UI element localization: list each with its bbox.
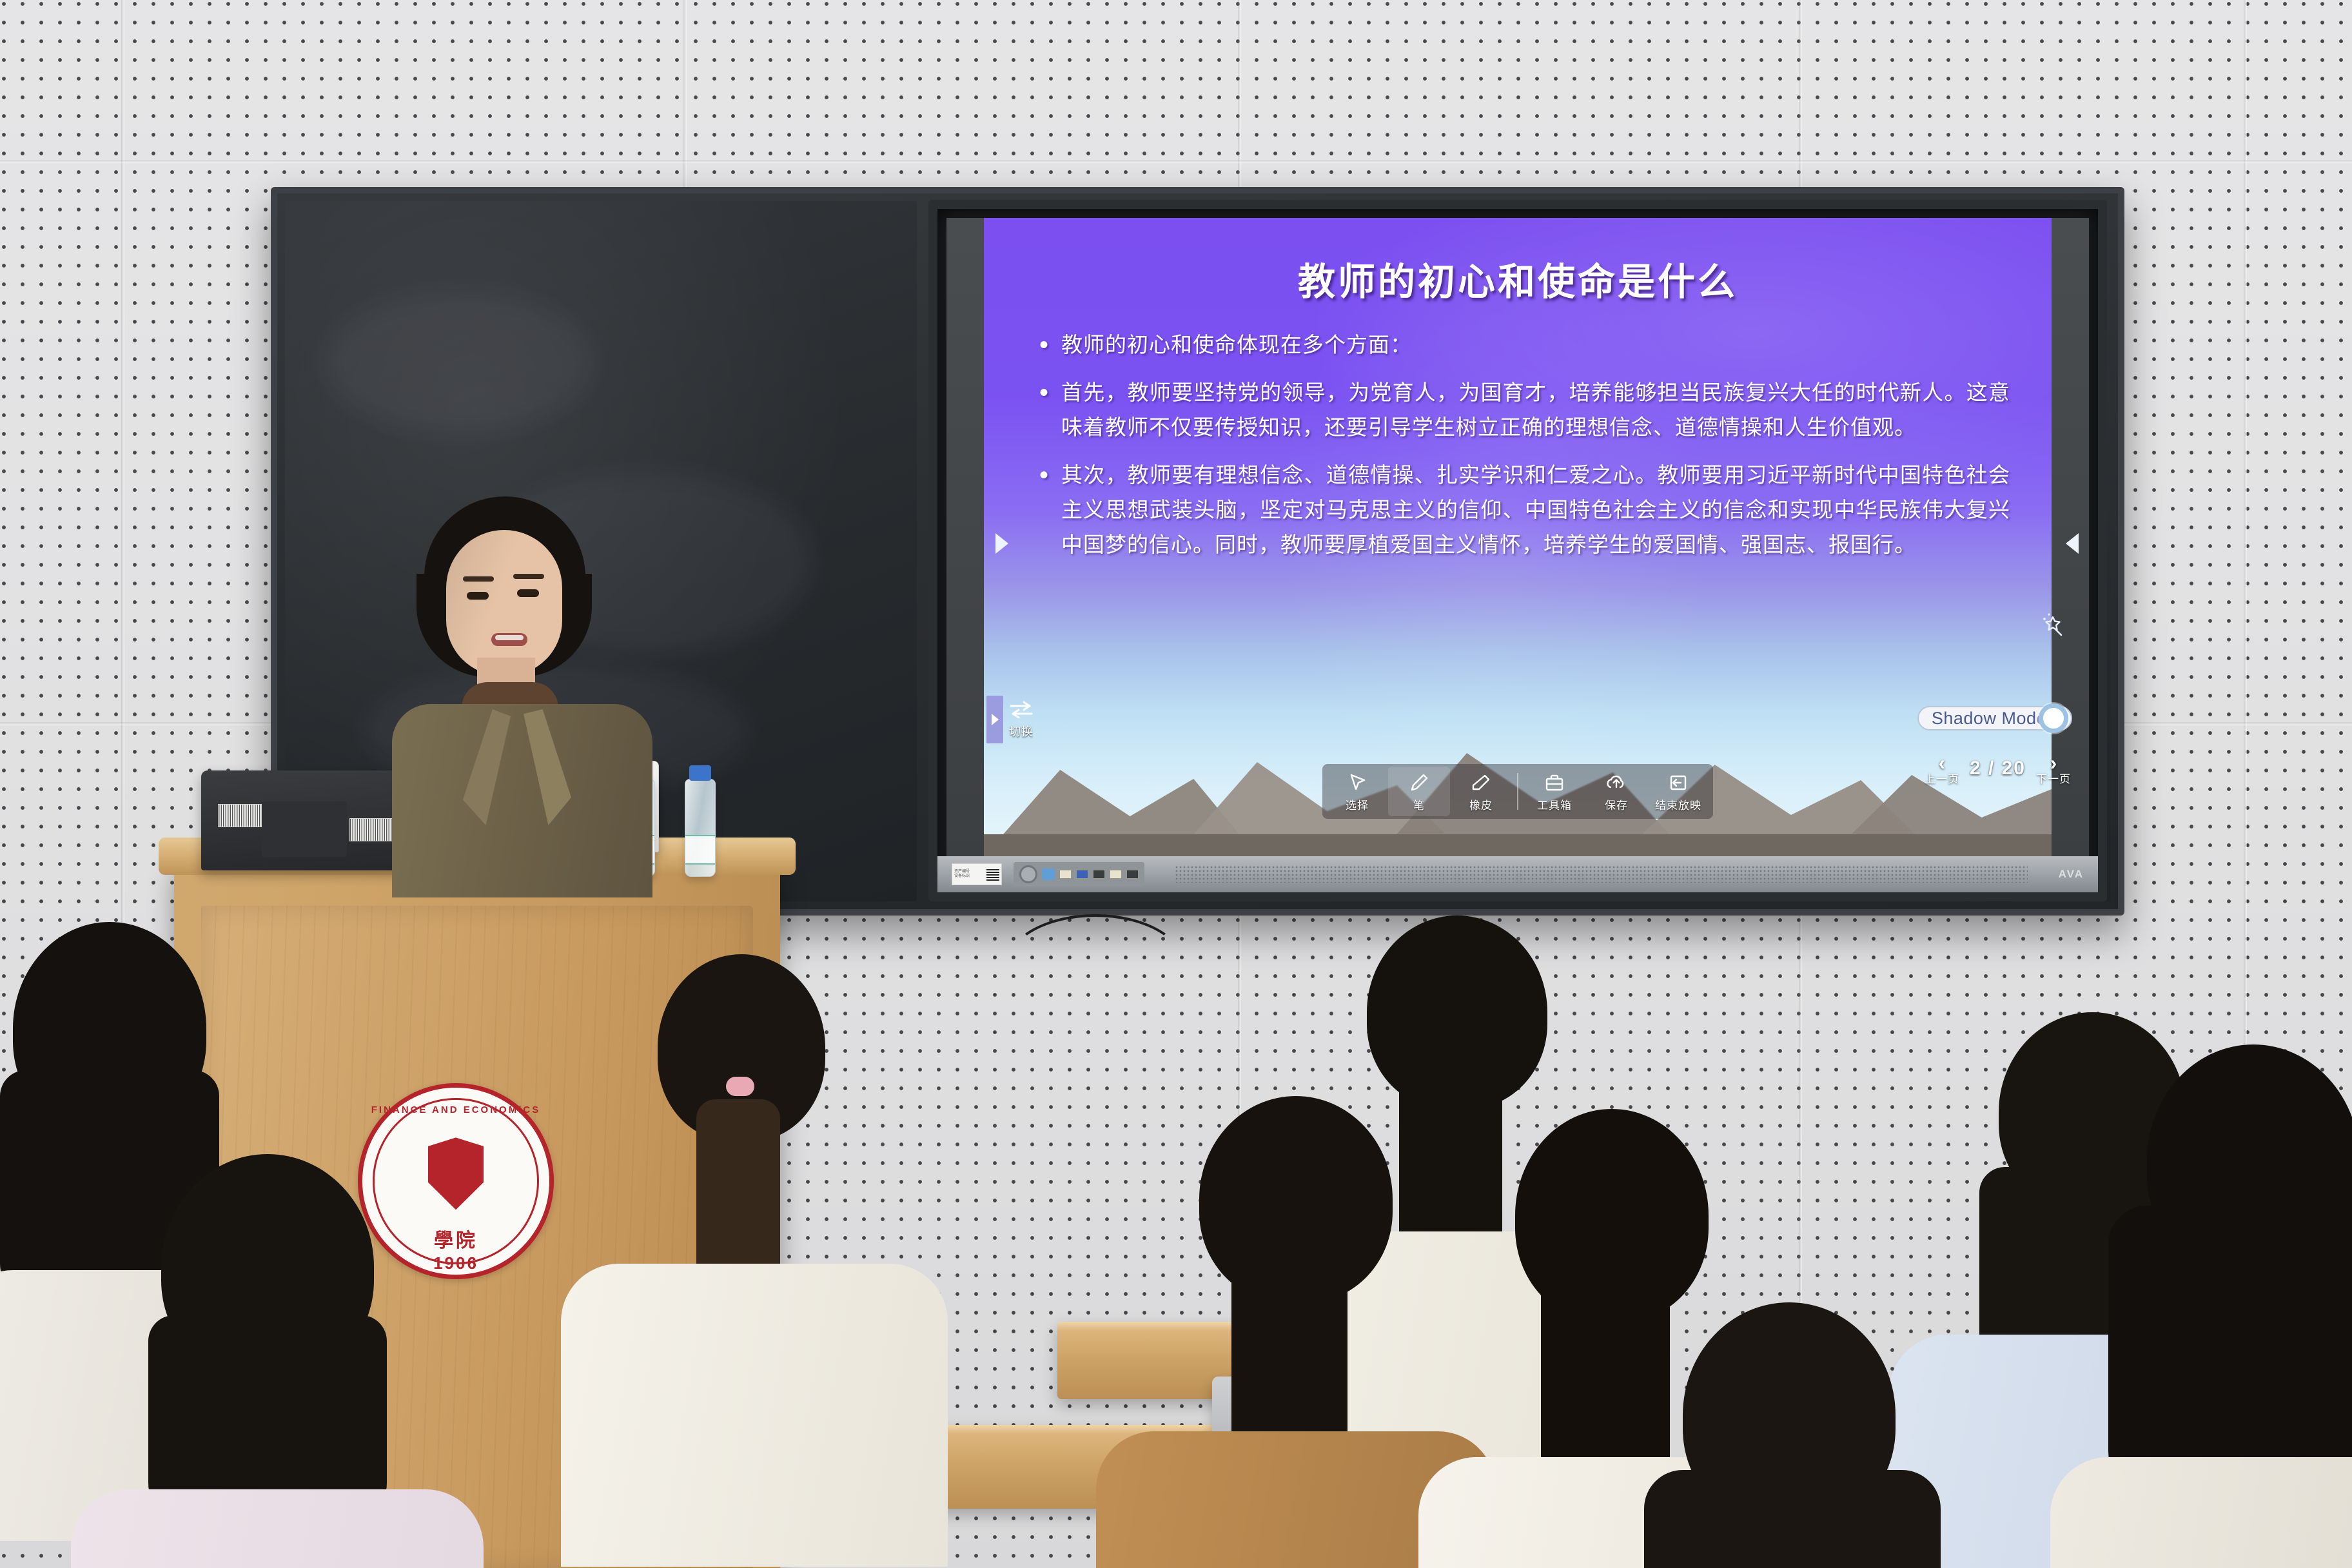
tool-label: 保存 — [1605, 796, 1628, 812]
page-counter: 2 / 20 — [1970, 758, 2026, 779]
tool-toolbox[interactable]: 工具箱 — [1524, 767, 1585, 816]
presenter-blazer — [392, 704, 652, 897]
panel-expand-left-icon[interactable] — [993, 531, 1010, 560]
tool-eraser[interactable]: 橡皮 — [1450, 767, 1512, 816]
presentation-toolbar[interactable]: 选择 笔 橡皮 — [1322, 764, 1713, 819]
chevron-left-icon: ‹ — [1939, 752, 1946, 774]
next-page-label: 下一页 — [2036, 774, 2071, 785]
cursor-select-icon — [1346, 772, 1368, 794]
barcode-label — [218, 804, 262, 827]
shadow-mode-toggle[interactable]: Shadow Mode — [1917, 706, 2072, 730]
tool-label: 橡皮 — [1469, 796, 1493, 812]
presenter-face — [446, 530, 562, 676]
asset-tag-line2: 设备标识 — [954, 874, 970, 878]
student — [116, 1154, 438, 1568]
vga-port-icon — [1126, 870, 1139, 879]
usb-port-icon — [1059, 870, 1072, 879]
bottle-cap — [689, 765, 711, 781]
display-brand-logo: AVA — [2059, 868, 2084, 881]
switch-tab-handle[interactable] — [986, 696, 1003, 743]
pen-icon — [1408, 772, 1430, 794]
student — [2070, 1044, 2352, 1567]
list-item: • 首先，教师要坚持党的领导，为党育人，为国育才，培养能够担当民族复兴大任的时代… — [1039, 375, 2010, 445]
display-bottom-bezel: 资产编号 设备标识 AVA — [937, 856, 2098, 892]
panel-expand-right-icon[interactable] — [2064, 531, 2081, 560]
bullet-text: 其次，教师要有理想信念、道德情操、扎实学识和仁爱之心。教师要用习近平新时代中国特… — [1061, 458, 2010, 562]
slide-bullet-list: • 教师的初心和使命体现在多个方面： • 首先，教师要坚持党的领导，为党育人，为… — [1039, 328, 2010, 575]
swap-arrows-icon — [1008, 700, 1034, 721]
list-item: • 其次，教师要有理想信念、道德情操、扎实学识和仁爱之心。教师要用习近平新时代中… — [1039, 458, 2010, 562]
wall-panel-seam — [0, 160, 2352, 163]
list-item: • 教师的初心和使命体现在多个方面： — [1039, 328, 2010, 362]
tool-select[interactable]: 选择 — [1326, 767, 1388, 816]
tool-save[interactable]: 保存 — [1585, 767, 1647, 816]
classroom-scene: 教师的初心和使命是什么 • 教师的初心和使命体现在多个方面： • 首先，教师要坚… — [0, 0, 2352, 1568]
slide-title: 教师的初心和使命是什么 — [984, 251, 2052, 306]
switch-control[interactable]: 切换 — [986, 696, 1034, 743]
qr-code-icon — [986, 868, 999, 881]
podium-monitor[interactable] — [201, 770, 407, 870]
hdmi-port-icon — [1093, 870, 1105, 879]
student — [600, 954, 883, 1406]
prev-page-button[interactable]: ‹ 上一页 — [1925, 752, 1959, 785]
water-bottle — [685, 779, 716, 877]
switch-label: 切换 — [1009, 723, 1034, 740]
display-screen[interactable]: 教师的初心和使命是什么 • 教师的初心和使命体现在多个方面： • 首先，教师要坚… — [946, 218, 2089, 856]
bottle-label — [685, 835, 715, 865]
tool-label: 结束放映 — [1655, 796, 1701, 812]
tool-end-show[interactable]: 结束放映 — [1647, 767, 1709, 816]
toolbar-divider — [1517, 773, 1518, 810]
monitor-stand — [262, 801, 347, 857]
tool-label: 工具箱 — [1537, 796, 1572, 812]
power-knob-icon[interactable] — [1019, 865, 1037, 883]
shadow-mode-label: Shadow Mode — [1932, 709, 2046, 729]
next-page-button[interactable]: › 下一页 — [2036, 752, 2071, 785]
tool-pen[interactable]: 笔 — [1388, 767, 1450, 816]
tool-label: 笔 — [1413, 796, 1425, 812]
magic-wand-icon[interactable] — [2036, 611, 2066, 643]
exit-icon — [1667, 772, 1689, 794]
ethernet-port-icon — [1042, 868, 1055, 880]
chevron-right-icon: › — [2050, 752, 2057, 774]
smart-display[interactable]: 教师的初心和使命是什么 • 教师的初心和使命体现在多个方面： • 首先，教师要坚… — [928, 200, 2107, 901]
asset-tag-line1: 资产编号 — [954, 870, 970, 874]
toggle-knob[interactable] — [2039, 703, 2068, 733]
bullet-marker: • — [1039, 375, 1061, 445]
prev-page-label: 上一页 — [1925, 774, 1959, 785]
asset-tag: 资产编号 设备标识 — [952, 863, 1002, 885]
hanging-cable — [1006, 914, 1185, 1016]
toolbox-icon — [1543, 772, 1565, 794]
presenter — [387, 496, 658, 883]
bullet-marker: • — [1039, 328, 1061, 362]
presentation-slide[interactable]: 教师的初心和使命是什么 • 教师的初心和使命体现在多个方面： • 首先，教师要坚… — [984, 218, 2052, 856]
bullet-marker: • — [1039, 458, 1061, 562]
speaker-grille — [1175, 866, 2028, 883]
bullet-text: 首先，教师要坚持党的领导，为党育人，为国育才，培养能够担当民族复兴大任的时代新人… — [1061, 375, 2010, 445]
usb3-port-icon — [1076, 870, 1088, 879]
cloud-upload-icon — [1605, 772, 1627, 794]
emblem-english-text: FINANCE AND ECONOMICS — [362, 1104, 549, 1115]
eraser-icon — [1470, 772, 1492, 794]
slide-pager[interactable]: ‹ 上一页 2 / 20 › 下一页 — [1925, 752, 2071, 785]
usb-port-icon — [1110, 870, 1122, 879]
bullet-text: 教师的初心和使命体现在多个方面： — [1061, 328, 1412, 362]
tool-label: 选择 — [1346, 796, 1369, 812]
port-cluster[interactable] — [1014, 862, 1144, 887]
student — [1560, 1302, 1999, 1568]
